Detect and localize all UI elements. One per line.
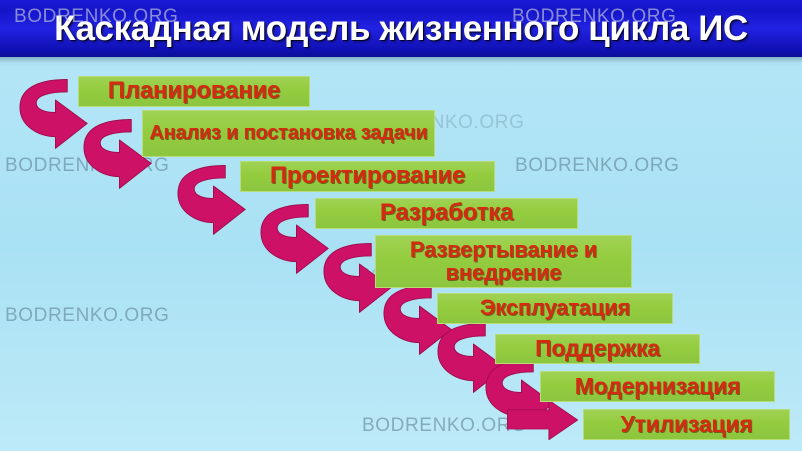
stage-label: Утилизация: [620, 413, 752, 436]
flow-arrow-straight: [506, 396, 580, 444]
stage-label: Проектирование: [270, 164, 465, 188]
slide-canvas: Каскадная модель жизненного цикла ИС BOD…: [0, 0, 802, 451]
flow-arrow-curved: [172, 164, 246, 230]
page-title: Каскадная модель жизненного цикла ИС: [0, 0, 802, 57]
watermark: BODRENKO.ORG: [5, 305, 170, 327]
stage-label: Анализ и постановка задачи: [149, 123, 427, 143]
stage-label: Модернизация: [575, 375, 741, 398]
stage-box-8[interactable]: Модернизация: [540, 371, 775, 402]
watermark: BODRENKO.ORG: [515, 155, 680, 177]
stage-box-5[interactable]: Развертывание и внедрение: [375, 235, 632, 288]
stage-label: Эксплуатация: [480, 297, 630, 319]
stage-box-4[interactable]: Разработка: [315, 198, 578, 229]
stage-label: Развертывание и внедрение: [376, 239, 631, 284]
stage-box-7[interactable]: Поддержка: [495, 334, 700, 364]
slide-title-bar: Каскадная модель жизненного цикла ИС: [0, 0, 802, 57]
stage-box-9[interactable]: Утилизация: [583, 409, 790, 440]
stage-label: Планирование: [108, 79, 280, 103]
stage-label: Разработка: [380, 201, 513, 225]
stage-label: Поддержка: [535, 337, 660, 360]
stage-box-1[interactable]: Планирование: [78, 76, 310, 107]
stage-box-2[interactable]: Анализ и постановка задачи: [142, 110, 435, 157]
flow-arrow-curved: [78, 118, 152, 184]
flow-arrow-curved: [14, 78, 88, 144]
title-bar-shadow: [0, 57, 802, 67]
stage-box-3[interactable]: Проектирование: [240, 161, 495, 192]
stage-box-6[interactable]: Эксплуатация: [437, 293, 673, 324]
